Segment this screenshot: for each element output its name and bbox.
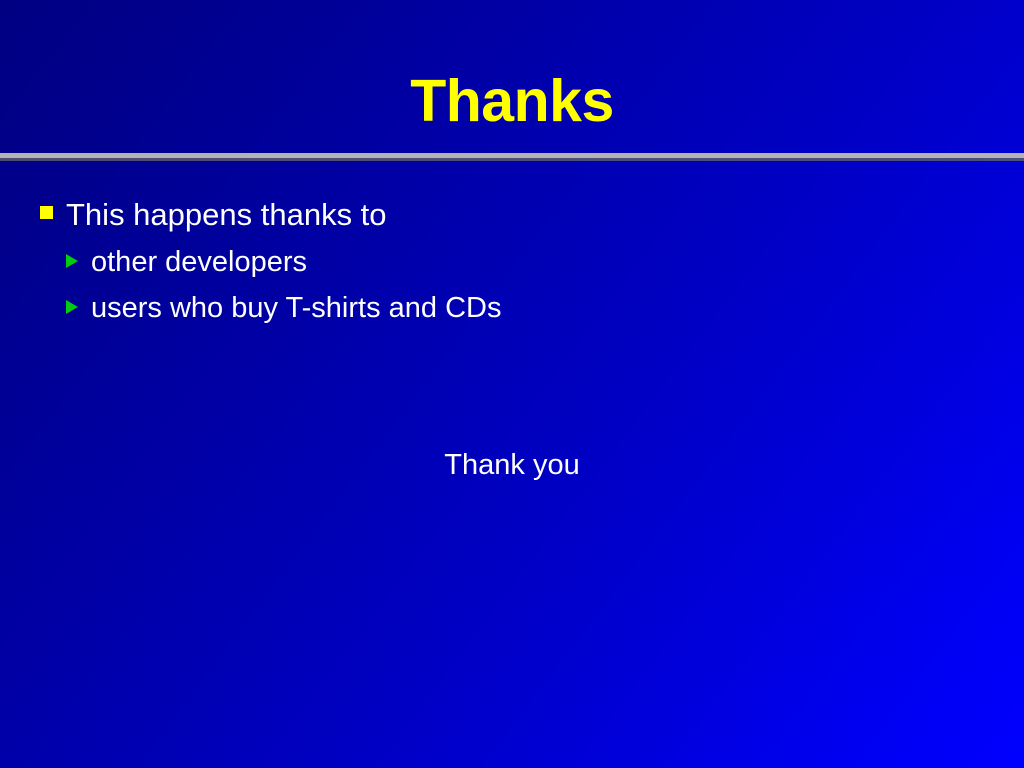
bullet-text: other developers [91,246,307,278]
slide-title-area: Thanks [0,0,1024,155]
yellow-square-bullet-icon [40,206,53,219]
presentation-slide: Thanks This happens thanks to other deve… [0,0,1024,768]
divider-shadow-rule [0,158,1024,161]
closing-message: Thank you [0,448,1024,482]
title-divider [0,153,1024,161]
slide-title: Thanks [0,66,1024,136]
slide-body: This happens thanks to other developers … [0,168,1024,768]
bullet-text: This happens thanks to [66,198,387,232]
green-triangle-bullet-icon [66,300,78,314]
bullet-item-level2: other developers [66,246,307,278]
bullet-text: users who buy T-shirts and CDs [91,292,501,324]
bullet-item-level1: This happens thanks to [40,198,387,232]
bullet-item-level2: users who buy T-shirts and CDs [66,292,501,324]
green-triangle-bullet-icon [66,254,78,268]
